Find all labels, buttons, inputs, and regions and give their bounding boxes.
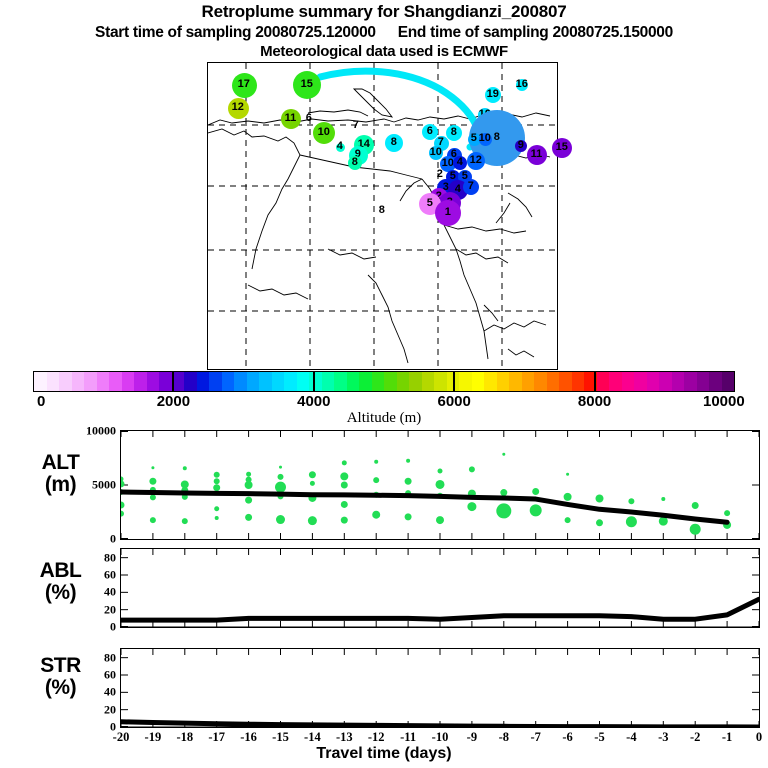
map-bubble-label: 11: [285, 113, 297, 124]
abl-panel[interactable]: [120, 548, 760, 628]
map-bubble-label: 16: [516, 79, 528, 90]
map-bubble-label: 11: [531, 149, 543, 160]
colorbar-segment: [372, 372, 385, 391]
meteorology-label: Meteorological data used is ECMWF: [0, 43, 768, 60]
map-bubble-label: 7: [353, 120, 359, 131]
map-bubble-label: 2: [437, 169, 443, 180]
map-bubble-label: 5: [471, 133, 477, 144]
y-tick-label: 10000: [58, 424, 116, 439]
abl-plot: [121, 549, 759, 627]
colorbar-segment: [434, 372, 447, 391]
colorbar-tick-label: 6000: [438, 393, 471, 410]
colorbar-segment: [384, 372, 397, 391]
y-tick-label: 20: [58, 702, 116, 717]
colorbar-segment: [184, 372, 197, 391]
colorbar-segment: [34, 372, 47, 391]
map-bubble-label: 8: [494, 132, 500, 143]
y-tick-label: 40: [58, 685, 116, 700]
colorbar-segment: [534, 372, 547, 391]
y-tick-label: 40: [58, 585, 116, 600]
colorbar-segment: [234, 372, 247, 391]
map-bubble-label: 1: [445, 207, 451, 218]
x-tick-label: -4: [626, 730, 636, 745]
map-bubble-label: 4: [337, 141, 343, 152]
x-tick-label: -6: [562, 730, 572, 745]
colorbar-segment: [422, 372, 435, 391]
colorbar-segment: [622, 372, 635, 391]
x-tick-label: -18: [176, 730, 193, 745]
colorbar-segment: [634, 372, 647, 391]
alt-panel[interactable]: [120, 430, 760, 540]
colorbar-segment: [497, 372, 510, 391]
header-block: Retroplume summary for Shangdianzi_20080…: [0, 2, 768, 60]
colorbar-segment: [659, 372, 672, 391]
colorbar-segment: [597, 372, 610, 391]
colorbar-segment: [559, 372, 572, 391]
x-tick-label: -5: [594, 730, 604, 745]
colorbar-segment: [222, 372, 235, 391]
y-tick-label: 80: [58, 550, 116, 565]
map-bubble-label: 7: [468, 181, 474, 192]
map-bubble-label: 19: [487, 89, 499, 100]
colorbar-segment: [247, 372, 260, 391]
colorbar-major-tick: [313, 371, 315, 392]
start-time-label: Start time of sampling 20080725.120000: [95, 24, 376, 41]
colorbar-tick-label: 10000: [703, 393, 745, 410]
colorbar-segment: [572, 372, 585, 391]
colorbar-major-tick: [453, 371, 455, 392]
colorbar-segment: [297, 372, 310, 391]
map-bubble-label: 15: [556, 142, 568, 153]
colorbar-segment: [322, 372, 335, 391]
page-title: Retroplume summary for Shangdianzi_20080…: [0, 2, 768, 22]
colorbar-segment: [284, 372, 297, 391]
y-tick-label: 0: [58, 720, 116, 735]
x-tick-label: -9: [467, 730, 477, 745]
colorbar-segment: [147, 372, 160, 391]
map-bubble-label: 12: [232, 102, 244, 113]
colorbar-segment: [522, 372, 535, 391]
colorbar-segment: [709, 372, 722, 391]
colorbar-tick-label: 0: [37, 393, 45, 410]
x-tick-label: -15: [272, 730, 289, 745]
colorbar-segment: [109, 372, 122, 391]
x-tick-label: -14: [304, 730, 321, 745]
x-tick-label: 0: [756, 730, 762, 745]
colorbar-segment: [459, 372, 472, 391]
colorbar-segment: [159, 372, 172, 391]
colorbar-segment: [472, 372, 485, 391]
y-tick-label: 60: [58, 568, 116, 583]
colorbar-segment: [609, 372, 622, 391]
colorbar-segment: [97, 372, 110, 391]
str-panel[interactable]: [120, 648, 760, 728]
colorbar-segment: [647, 372, 660, 391]
alt-plot: [121, 431, 759, 539]
x-axis-title: Travel time (days): [0, 745, 768, 763]
sampling-time-line: Start time of sampling 20080725.120000En…: [0, 24, 768, 42]
map-bubble-label: 8: [352, 157, 358, 168]
colorbar-segment: [72, 372, 85, 391]
x-tick-label: -10: [432, 730, 449, 745]
y-tick-label: 0: [58, 620, 116, 635]
colorbar-segment: [697, 372, 710, 391]
colorbar-segment: [547, 372, 560, 391]
map-bubble-label: 10: [479, 133, 491, 144]
x-tick-label: -2: [690, 730, 700, 745]
map-bubble-label: 10: [318, 127, 330, 138]
colorbar-segment: [59, 372, 72, 391]
colorbar-segment: [47, 372, 60, 391]
altitude-colorbar: [33, 371, 735, 392]
map-bubble-label: 4: [457, 157, 463, 168]
x-tick-label: -11: [400, 730, 416, 745]
x-tick-label: -13: [336, 730, 353, 745]
colorbar-segment: [684, 372, 697, 391]
colorbar-tick-label: 8000: [578, 393, 611, 410]
colorbar-segment: [509, 372, 522, 391]
colorbar-segment: [672, 372, 685, 391]
colorbar-tick-label: 2000: [157, 393, 190, 410]
str-plot: [121, 649, 759, 727]
colorbar-segment: [334, 372, 347, 391]
map-bubble-label: 9: [518, 140, 524, 151]
colorbar-segment: [347, 372, 360, 391]
retroplume-map[interactable]: 1712151161071498486781010916198510912111…: [207, 62, 558, 370]
x-tick-label: -19: [145, 730, 162, 745]
map-bubble-label: 17: [238, 79, 250, 90]
map-bubble-label: 8: [451, 127, 457, 138]
map-bubble-label: 5: [427, 198, 433, 209]
x-tick-label: -17: [208, 730, 225, 745]
colorbar-segment: [359, 372, 372, 391]
y-tick-label: 5000: [58, 478, 116, 493]
map-bubble-label: 10: [430, 147, 442, 158]
map-bubble-label: 8: [391, 137, 397, 148]
map-bubble-label: 8: [379, 205, 385, 216]
map-bubble-label: 12: [470, 155, 482, 166]
colorbar-major-tick: [172, 371, 174, 392]
map-bubble-label: 15: [301, 79, 313, 90]
colorbar-segment: [272, 372, 285, 391]
y-tick-label: 80: [58, 650, 116, 665]
end-time-label: End time of sampling 20080725.150000: [398, 24, 673, 41]
colorbar-segment: [122, 372, 135, 391]
map-bubble-label: 10: [442, 158, 454, 169]
x-tick-label: -16: [240, 730, 257, 745]
colorbar-segment: [397, 372, 410, 391]
x-tick-label: -20: [113, 730, 130, 745]
x-tick-label: -7: [530, 730, 540, 745]
colorbar-segment: [409, 372, 422, 391]
map-bubble-label: 6: [427, 126, 433, 137]
y-tick-label: 20: [58, 602, 116, 617]
colorbar-segment: [484, 372, 497, 391]
colorbar-segment: [197, 372, 210, 391]
colorbar-tick-label: 4000: [297, 393, 330, 410]
y-tick-label: 60: [58, 668, 116, 683]
colorbar-segment: [209, 372, 222, 391]
colorbar-segment: [134, 372, 147, 391]
y-tick-label: 0: [58, 532, 116, 547]
map-bubble-label: 6: [306, 113, 312, 124]
colorbar-segment: [259, 372, 272, 391]
colorbar-segment: [84, 372, 97, 391]
colorbar-segment: [309, 372, 322, 391]
x-tick-label: -1: [722, 730, 732, 745]
x-tick-label: -3: [658, 730, 668, 745]
colorbar-segment: [722, 372, 735, 391]
colorbar-major-tick: [594, 371, 596, 392]
x-tick-label: -8: [499, 730, 509, 745]
x-tick-label: -12: [368, 730, 385, 745]
